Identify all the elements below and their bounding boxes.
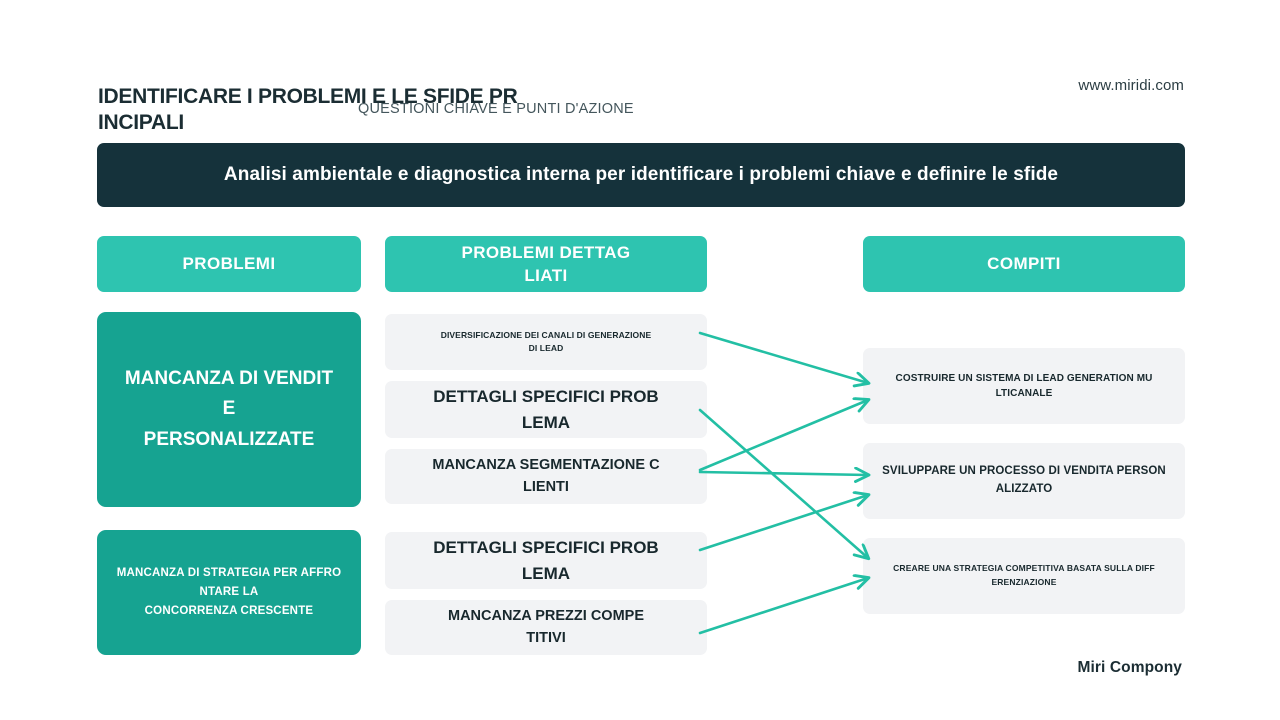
problem-card: MANCANZA DI VENDIT E PERSONALIZZATE	[97, 312, 361, 507]
task-card: SVILUPPARE UN PROCESSO DI VENDITA PERSON…	[863, 443, 1185, 519]
connector-arrow	[700, 400, 868, 470]
detail-card: MANCANZA PREZZI COMPE TITIVI	[385, 600, 707, 655]
task-card: COSTRUIRE UN SISTEMA DI LEAD GENERATION …	[863, 348, 1185, 424]
connector-arrow	[700, 410, 868, 558]
detail-card: DETTAGLI SPECIFICI PROB LEMA	[385, 532, 707, 589]
connector-arrow	[700, 495, 868, 550]
detail-card: MANCANZA SEGMENTAZIONE C LIENTI	[385, 449, 707, 504]
connector-arrow	[700, 578, 868, 633]
problem-card: MANCANZA DI STRATEGIA PER AFFRO NTARE LA…	[97, 530, 361, 655]
column-header-problemi-dettagliati: PROBLEMI DETTAG LIATI	[385, 236, 707, 292]
footer-company-name: Miri Compony	[1077, 659, 1182, 677]
connector-arrow	[700, 333, 868, 383]
page-subtitle: QUESTIONI CHIAVE E PUNTI D'AZIONE	[358, 101, 634, 117]
summary-banner-text: Analisi ambientale e diagnostica interna…	[204, 164, 1078, 186]
connector-arrow	[700, 472, 868, 475]
column-header-compiti: COMPITI	[863, 236, 1185, 292]
column-header-problemi: PROBLEMI	[97, 236, 361, 292]
site-url: www.miridi.com	[1078, 77, 1184, 94]
summary-banner: Analisi ambientale e diagnostica interna…	[97, 143, 1185, 207]
detail-card: DETTAGLI SPECIFICI PROB LEMA	[385, 381, 707, 438]
connector-lines	[700, 333, 868, 633]
task-card: CREARE UNA STRATEGIA COMPETITIVA BASATA …	[863, 538, 1185, 614]
detail-card: DIVERSIFICAZIONE DEI CANALI DI GENERAZIO…	[385, 314, 707, 370]
